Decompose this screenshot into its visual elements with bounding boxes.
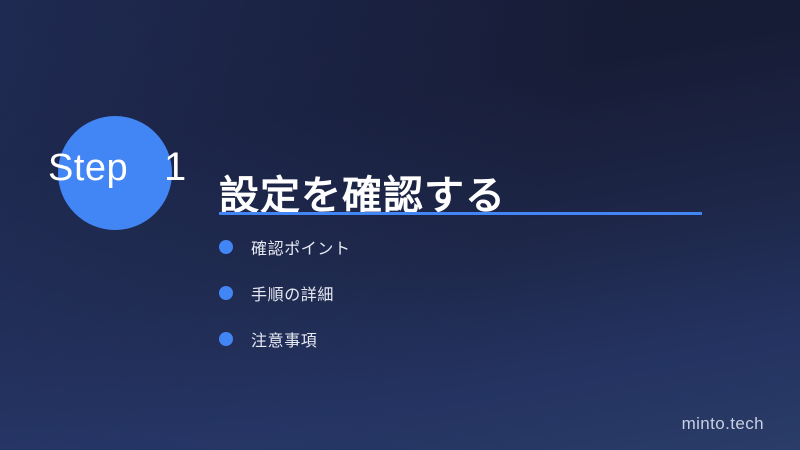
step-label: Step (48, 149, 128, 187)
list-item-label: 手順の詳細 (251, 281, 334, 305)
bullet-dot-icon (219, 286, 233, 300)
bullet-list: 確認ポイント 手順の詳細 注意事項 (219, 232, 351, 370)
list-item-label: 確認ポイント (251, 235, 351, 259)
list-item: 手順の詳細 (219, 278, 351, 308)
bullet-dot-icon (219, 240, 233, 254)
list-item-label: 注意事項 (251, 327, 317, 351)
list-item: 確認ポイント (219, 232, 351, 262)
slide-canvas: Step 1 設定を確認する 確認ポイント 手順の詳細 注意事項 minto.t… (0, 0, 800, 450)
bullet-dot-icon (219, 332, 233, 346)
title-underline-rule (219, 212, 702, 215)
list-item: 注意事項 (219, 324, 351, 354)
footer-brand: minto.tech (682, 414, 764, 434)
step-number: 1 (164, 147, 186, 187)
